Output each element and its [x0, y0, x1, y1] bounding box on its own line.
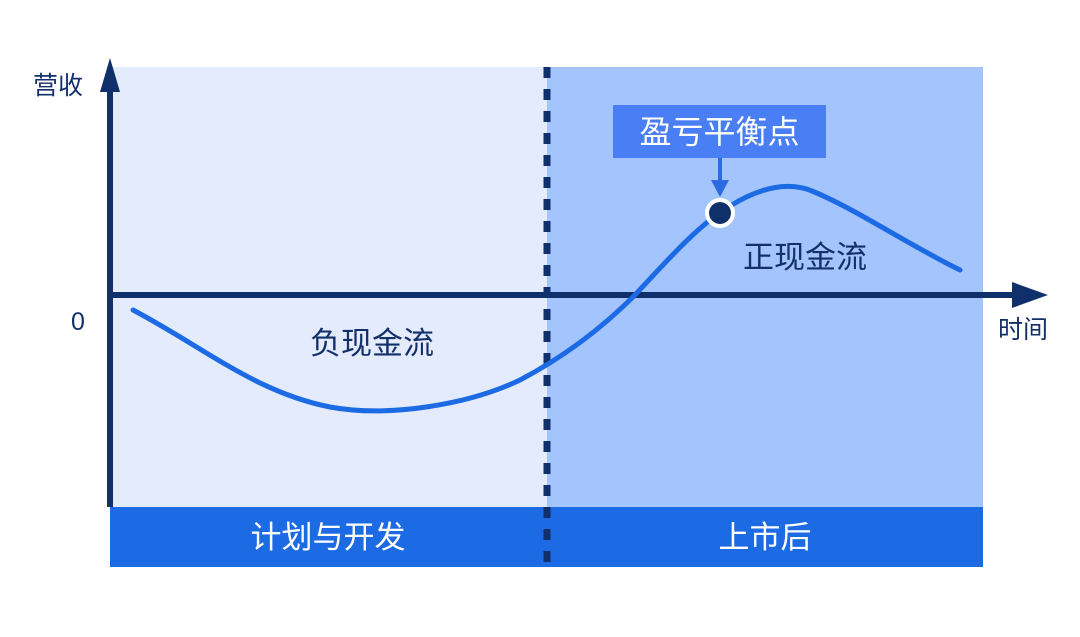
cash-flow-diagram: 计划与开发 上市后 营收 时间 0 负现金流 正现金流 盈亏平衡点 [0, 0, 1080, 637]
origin-zero-label: 0 [71, 308, 85, 336]
x-axis-title: 时间 [998, 315, 1048, 344]
phase-label-post-launch: 上市后 [719, 520, 812, 556]
label-negative-cash-flow: 负现金流 [310, 326, 434, 362]
diagram-canvas: 计划与开发 上市后 营收 时间 0 负现金流 正现金流 盈亏平衡点 [0, 0, 1080, 637]
phase-label-planning-development: 计划与开发 [251, 520, 406, 556]
label-positive-cash-flow: 正现金流 [743, 240, 867, 276]
region-planning-development [110, 67, 547, 507]
break-even-marker-dot[interactable] [709, 202, 731, 224]
y-axis-title: 营收 [33, 71, 83, 100]
break-even-callout-label: 盈亏平衡点 [639, 113, 799, 151]
